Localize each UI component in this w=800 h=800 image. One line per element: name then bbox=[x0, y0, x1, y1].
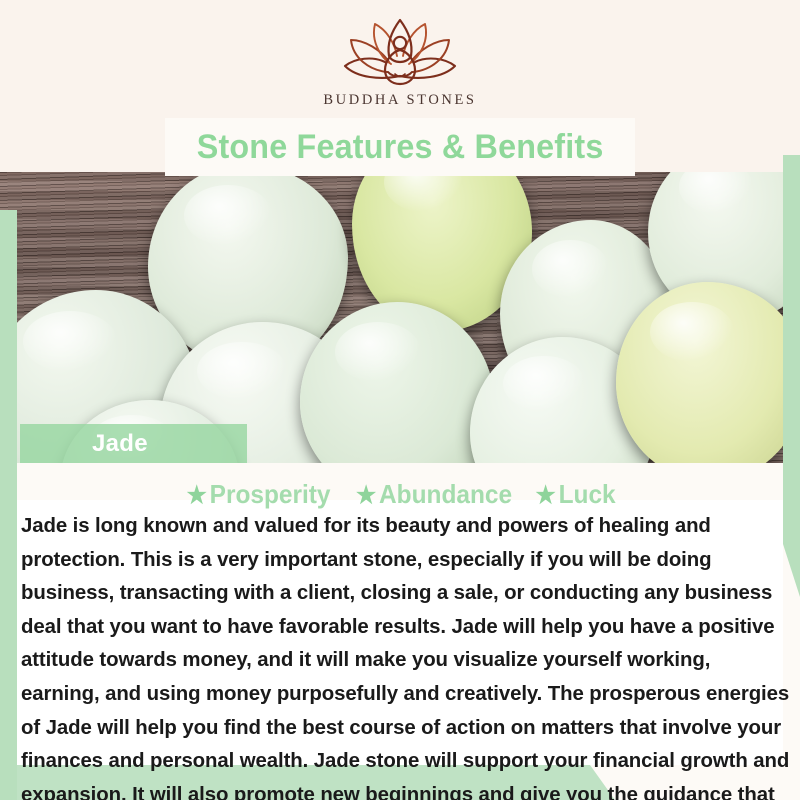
benefits-row: ★Prosperity★Abundance★Luck bbox=[0, 479, 800, 510]
benefit-item-prosperity: ★Prosperity bbox=[186, 479, 330, 510]
benefit-item-abundance: ★Abundance bbox=[356, 479, 512, 510]
benefit-item-luck: ★Luck bbox=[536, 479, 616, 510]
page-title: Stone Features & Benefits bbox=[197, 128, 604, 167]
benefit-label: Abundance bbox=[379, 479, 512, 509]
stone-photo bbox=[0, 172, 800, 463]
stone-name-band: Jade bbox=[20, 424, 247, 463]
benefit-label: Luck bbox=[559, 479, 616, 509]
brand-logo: BUDDHA STONES bbox=[0, 14, 800, 109]
benefit-label: Prosperity bbox=[209, 479, 330, 509]
stone-info-poster: BUDDHA STONES Stone Features & Benefits … bbox=[0, 0, 800, 800]
stone-object bbox=[616, 282, 800, 463]
right-accent-bar bbox=[783, 155, 800, 597]
page-title-banner: Stone Features & Benefits bbox=[165, 118, 635, 176]
star-icon: ★ bbox=[186, 482, 206, 509]
star-icon: ★ bbox=[536, 482, 556, 509]
brand-name: BUDDHA STONES bbox=[0, 92, 800, 109]
description-paragraph: Jade is long known and valued for its be… bbox=[21, 510, 793, 800]
left-accent-bar bbox=[0, 210, 17, 800]
description-block: Jade is long known and valued for its be… bbox=[17, 510, 793, 800]
stone-name-label: Jade bbox=[92, 430, 148, 458]
lotus-meditation-icon bbox=[325, 14, 475, 90]
star-icon: ★ bbox=[356, 482, 376, 509]
